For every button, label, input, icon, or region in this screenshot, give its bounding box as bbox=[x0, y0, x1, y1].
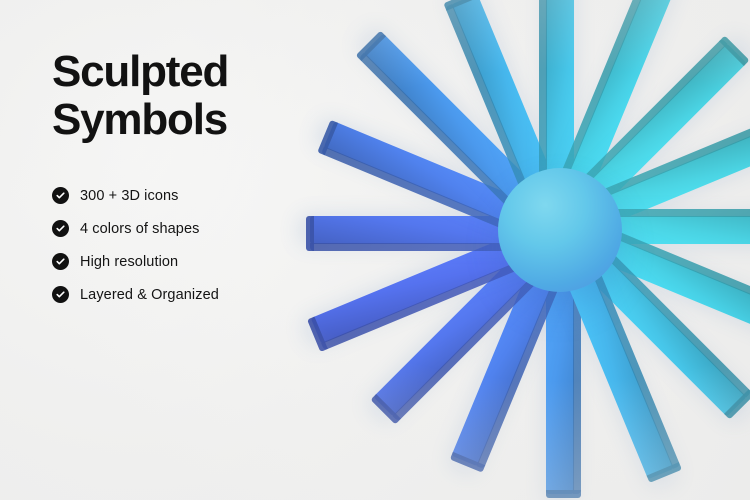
text-content: Sculpted Symbols 300 + 3D icons 4 colors… bbox=[52, 48, 352, 319]
list-item: 300 + 3D icons bbox=[52, 187, 352, 204]
check-circle-icon bbox=[52, 253, 69, 270]
feature-list: 300 + 3D icons 4 colors of shapes High r… bbox=[52, 187, 352, 303]
spoke-tip bbox=[546, 490, 581, 498]
starburst-artwork bbox=[300, 0, 750, 500]
starburst-hub bbox=[498, 168, 622, 292]
list-item: Layered & Organized bbox=[52, 286, 352, 303]
check-circle-icon bbox=[52, 286, 69, 303]
feature-label: 4 colors of shapes bbox=[80, 221, 199, 237]
check-circle-icon bbox=[52, 220, 69, 237]
page-title: Sculpted Symbols bbox=[52, 48, 352, 143]
feature-label: 300 + 3D icons bbox=[80, 188, 179, 204]
feature-label: High resolution bbox=[80, 254, 178, 270]
poster-canvas: Sculpted Symbols 300 + 3D icons 4 colors… bbox=[0, 0, 750, 500]
list-item: High resolution bbox=[52, 253, 352, 270]
check-circle-icon bbox=[52, 187, 69, 204]
feature-label: Layered & Organized bbox=[80, 287, 219, 303]
list-item: 4 colors of shapes bbox=[52, 220, 352, 237]
